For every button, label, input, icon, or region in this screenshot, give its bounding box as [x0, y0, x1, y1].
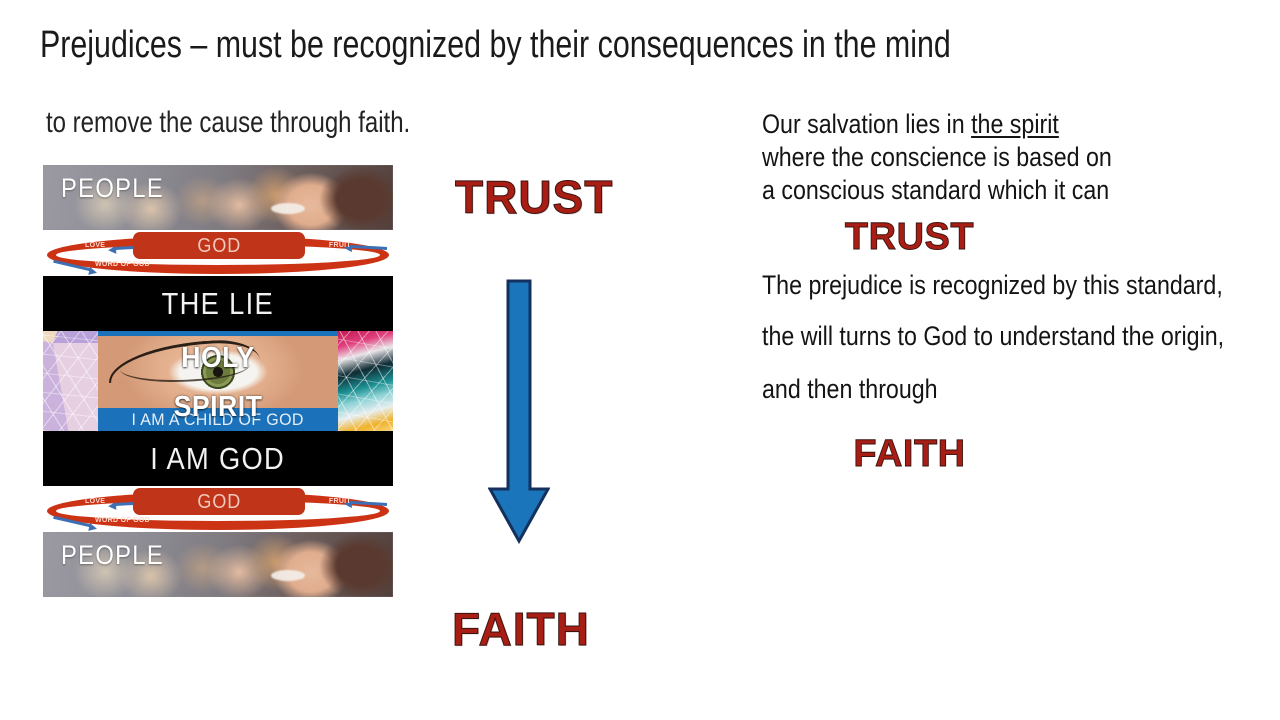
salvation-line3: a conscious standard which it can — [762, 175, 1109, 205]
god-ring-diagram-bottom: LOVE FRUIT WORD OF GOD GOD — [43, 486, 393, 532]
collage-container: PEOPLE LOVE FRUIT WORD OF GOD GOD THE LI… — [43, 165, 393, 597]
ring-tag-word-of-god: WORD OF GOD — [95, 261, 150, 269]
people-label-top: PEOPLE — [61, 171, 164, 205]
god-center-box: GOD — [133, 488, 305, 515]
page-title: Prejudices – must be recognized by their… — [40, 22, 1000, 68]
ring-tag-love: LOVE — [85, 242, 105, 250]
god-center-box: GOD — [133, 232, 305, 259]
right-text-column: Our salvation lies in the spirit where t… — [762, 108, 1272, 486]
center-trust-text: TRUST — [455, 172, 613, 222]
mosaic-right-decoration — [338, 331, 393, 431]
and-then-through-paragraph: and then through — [762, 373, 1269, 406]
people-photo-top: PEOPLE — [43, 165, 393, 230]
center-faith-text: FAITH — [452, 604, 590, 654]
people-photo-bottom: PEOPLE — [43, 532, 393, 597]
holy-spirit-eye-panel: HOLY SPIRIT I AM A CHILD OF GOD — [43, 331, 393, 431]
the-lie-band: THE LIE — [43, 276, 393, 331]
ring-tag-love: LOVE — [85, 498, 105, 506]
god-ring-diagram-top: LOVE FRUIT WORD OF GOD GOD — [43, 230, 393, 276]
right-trust-text: TRUST — [762, 215, 1057, 259]
i-am-god-band: I AM GOD — [43, 431, 393, 486]
the-lie-label: THE LIE — [162, 286, 274, 322]
ring-tag-word-of-god: WORD OF GOD — [95, 517, 150, 525]
salvation-line1-prefix: Our salvation lies in — [762, 109, 971, 139]
people-label-bottom: PEOPLE — [61, 538, 164, 572]
the-spirit-underlined: the spirit — [971, 109, 1059, 139]
page-subtitle: to remove the cause through faith. — [46, 104, 410, 142]
eye-image: HOLY SPIRIT I AM A CHILD OF GOD — [98, 331, 338, 431]
holy-word: HOLY — [108, 343, 329, 374]
down-arrow-icon — [488, 279, 550, 544]
mosaic-left-decoration — [43, 331, 98, 431]
god-center-label: GOD — [197, 492, 241, 512]
right-faith-text: FAITH — [762, 432, 1057, 476]
ring-tag-fruit: FRUIT — [329, 242, 351, 250]
will-turns-paragraph: the will turns to God to understand the … — [762, 320, 1269, 353]
prejudice-paragraph: The prejudice is recognized by this stan… — [762, 269, 1269, 302]
salvation-paragraph: Our salvation lies in the spirit where t… — [762, 108, 1269, 207]
god-center-label: GOD — [197, 236, 241, 256]
i-am-god-label: I AM GOD — [151, 441, 286, 477]
spirit-word: SPIRIT — [108, 392, 329, 423]
holy-spirit-text: HOLY SPIRIT — [108, 343, 329, 423]
salvation-line2: where the conscience is based on — [762, 142, 1112, 172]
ring-tag-fruit: FRUIT — [329, 498, 351, 506]
